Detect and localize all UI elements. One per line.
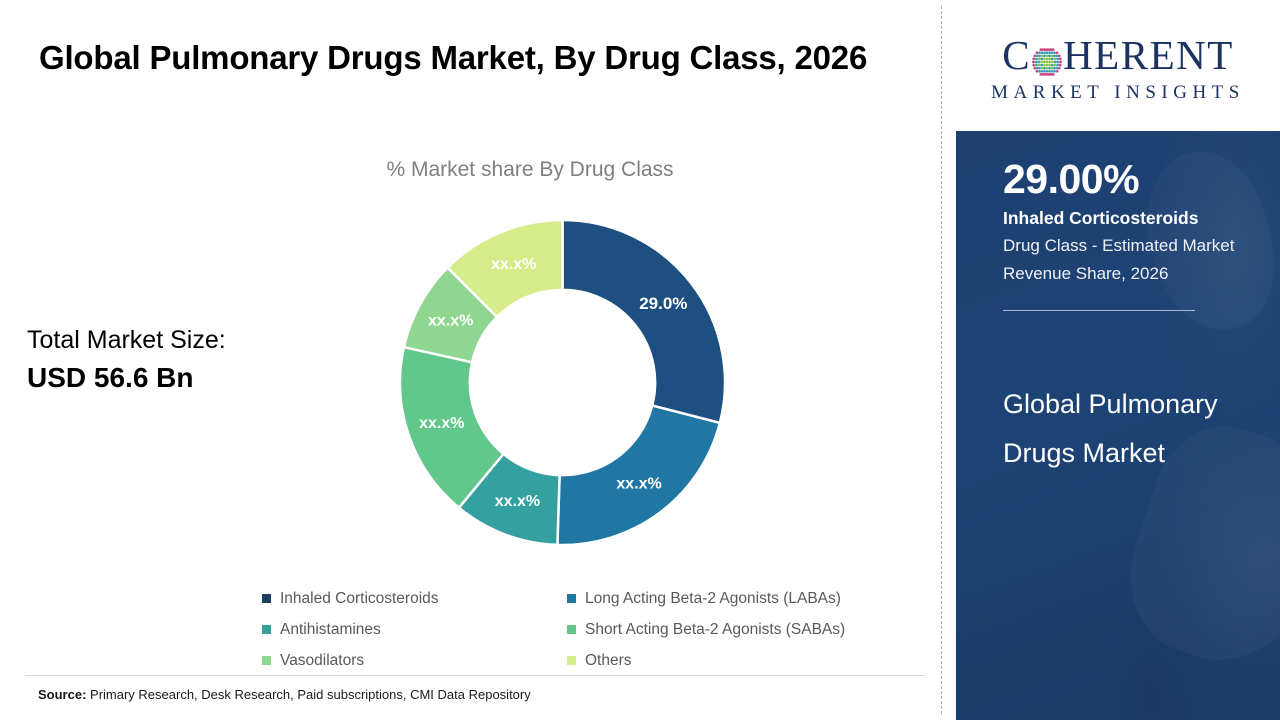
globe-dot <box>1040 57 1043 60</box>
total-market-size-value: USD 56.6 Bn <box>27 358 226 399</box>
globe-dot <box>1048 69 1051 72</box>
globe-dot <box>1046 66 1049 69</box>
highlight-rule <box>1003 310 1195 311</box>
legend-item[interactable]: Inhaled Corticosteroids <box>262 590 567 608</box>
brand-panel: C HERENT MARKET INSIGHTS 29.00% Inhaled … <box>946 0 1280 720</box>
globe-dot <box>1038 57 1041 60</box>
globe-dot <box>1048 63 1051 66</box>
legend-swatch-icon <box>262 656 271 665</box>
infographic-page: Global Pulmonary Drugs Market, By Drug C… <box>0 0 1280 720</box>
globe-dot <box>1048 57 1051 60</box>
globe-dot <box>1059 60 1062 63</box>
legend-swatch-icon <box>262 625 271 634</box>
globe-dot <box>1043 51 1046 54</box>
chart-subtitle: % Market share By Drug Class <box>0 158 946 182</box>
globe-dot <box>1035 60 1038 63</box>
logo-letter-c: C <box>1002 35 1031 76</box>
globe-dot <box>1034 54 1037 57</box>
globe-dot <box>1053 54 1056 57</box>
chart-legend: Inhaled CorticosteroidsLong Acting Beta-… <box>262 583 882 676</box>
globe-dot <box>1048 51 1051 54</box>
globe-dot <box>1043 60 1046 63</box>
logo-letters-herent: HERENT <box>1063 35 1234 76</box>
highlight-panel: 29.00% Inhaled Corticosteroids Drug Clas… <box>956 131 1280 720</box>
globe-dot <box>1041 66 1044 69</box>
globe-dot <box>1051 69 1054 72</box>
legend-item[interactable]: Antihistamines <box>262 621 567 639</box>
globe-dot <box>1051 54 1054 57</box>
globe-dot <box>1035 63 1038 66</box>
globe-dot <box>1052 73 1055 76</box>
donut-slice-label: xx.x% <box>616 476 661 493</box>
globe-dot <box>1041 54 1044 57</box>
total-market-size: Total Market Size: USD 56.6 Bn <box>27 322 226 399</box>
highlight-segment-name: Inhaled Corticosteroids <box>1003 208 1253 229</box>
legend-swatch-icon <box>567 625 576 634</box>
legend-label: Vasodilators <box>280 652 364 670</box>
legend-label: Others <box>585 652 632 670</box>
source-divider <box>25 675 925 676</box>
globe-dot <box>1052 48 1055 51</box>
logo-wordmark: C HERENT <box>1002 35 1234 76</box>
globe-dot <box>1053 69 1056 72</box>
source-text: Primary Research, Desk Research, Paid su… <box>90 687 531 702</box>
donut-chart: 29.0%xx.x%xx.x%xx.x%xx.x%xx.x% <box>400 220 725 545</box>
highlight-stat: 29.00% Inhaled Corticosteroids Drug Clas… <box>1003 157 1253 311</box>
globe-dot <box>1038 51 1041 54</box>
globe-dot <box>1036 54 1039 57</box>
globe-dot <box>1032 63 1035 66</box>
globe-dot <box>1043 57 1046 60</box>
globe-dot <box>1056 63 1059 66</box>
panel-divider <box>941 6 942 714</box>
globe-dot <box>1048 66 1051 69</box>
globe-dot <box>1051 63 1054 66</box>
globe-dot <box>1043 69 1046 72</box>
globe-dot <box>1057 60 1060 63</box>
legend-swatch-icon <box>567 594 576 603</box>
globe-dot <box>1053 66 1056 69</box>
highlight-description: Drug Class - Estimated Market Revenue Sh… <box>1003 232 1253 288</box>
globe-dot <box>1040 60 1043 63</box>
globe-dot <box>1055 66 1058 69</box>
globe-dot <box>1046 54 1049 57</box>
globe-dot <box>1051 60 1054 63</box>
globe-dot <box>1036 69 1039 72</box>
donut-slice-label: xx.x% <box>491 256 536 273</box>
globe-dot <box>1056 57 1059 60</box>
globe-dot <box>1056 51 1059 54</box>
globe-icon-svg <box>1032 47 1062 77</box>
chart-panel: Global Pulmonary Drugs Market, By Drug C… <box>0 0 946 720</box>
globe-icon <box>1032 43 1062 73</box>
globe-dot <box>1041 51 1044 54</box>
source-note: Source: Primary Research, Desk Research,… <box>38 687 531 702</box>
total-market-size-label: Total Market Size: <box>27 322 226 358</box>
globe-dot <box>1035 57 1038 60</box>
globe-dot <box>1041 69 1044 72</box>
globe-dot <box>1032 57 1035 60</box>
globe-dot <box>1051 66 1054 69</box>
donut-slice-label: xx.x% <box>428 312 473 329</box>
legend-label: Inhaled Corticosteroids <box>280 590 439 608</box>
globe-dot <box>1036 66 1039 69</box>
donut-slice <box>563 220 726 423</box>
globe-dot <box>1051 51 1054 54</box>
legend-item[interactable]: Others <box>567 652 882 670</box>
globe-dot <box>1056 69 1059 72</box>
legend-label: Long Acting Beta-2 Agonists (LABAs) <box>585 590 841 608</box>
globe-dot <box>1040 63 1043 66</box>
globe-dot <box>1058 66 1061 69</box>
globe-dot <box>1038 69 1041 72</box>
globe-dot <box>1055 54 1058 57</box>
legend-label: Short Acting Beta-2 Agonists (SABAs) <box>585 621 845 639</box>
globe-dot <box>1058 54 1061 57</box>
legend-swatch-icon <box>567 656 576 665</box>
legend-label: Antihistamines <box>280 621 381 639</box>
globe-dot <box>1043 54 1046 57</box>
globe-dot <box>1043 63 1046 66</box>
market-name: Global Pulmonary Drugs Market <box>1003 380 1253 479</box>
globe-dot <box>1038 60 1041 63</box>
legend-swatch-icon <box>262 594 271 603</box>
globe-dot <box>1034 66 1037 69</box>
donut-slice-label: 29.0% <box>639 294 687 313</box>
page-title: Global Pulmonary Drugs Market, By Drug C… <box>39 32 899 83</box>
legend-item[interactable]: Short Acting Beta-2 Agonists (SABAs) <box>567 621 882 639</box>
globe-dot <box>1048 60 1051 63</box>
globe-dot <box>1059 57 1062 60</box>
globe-dot <box>1038 54 1041 57</box>
globe-dot <box>1054 57 1057 60</box>
logo: C HERENT MARKET INSIGHTS <box>956 6 1280 131</box>
source-label: Source: <box>38 687 86 702</box>
globe-dot <box>1054 60 1057 63</box>
globe-dot <box>1032 60 1035 63</box>
highlight-percent: 29.00% <box>1003 157 1253 202</box>
globe-dot <box>1036 51 1039 54</box>
globe-dot <box>1038 63 1041 66</box>
donut-slice-label: xx.x% <box>495 493 540 510</box>
globe-dot <box>1053 51 1056 54</box>
legend-item[interactable]: Vasodilators <box>262 652 567 670</box>
globe-dot <box>1051 57 1054 60</box>
globe-dot <box>1038 66 1041 69</box>
legend-item[interactable]: Long Acting Beta-2 Agonists (LABAs) <box>567 590 882 608</box>
globe-dot <box>1046 57 1049 60</box>
globe-dot <box>1043 66 1046 69</box>
donut-slice-label: xx.x% <box>419 415 464 432</box>
globe-dot <box>1046 51 1049 54</box>
globe-dot <box>1048 54 1051 57</box>
donut-chart-svg: 29.0%xx.x%xx.x%xx.x%xx.x%xx.x% <box>400 220 725 545</box>
globe-dot <box>1046 60 1049 63</box>
globe-dot <box>1046 63 1049 66</box>
logo-tagline: MARKET INSIGHTS <box>991 83 1245 102</box>
globe-dot <box>1046 69 1049 72</box>
globe-dot <box>1059 63 1062 66</box>
globe-dot <box>1054 63 1057 66</box>
